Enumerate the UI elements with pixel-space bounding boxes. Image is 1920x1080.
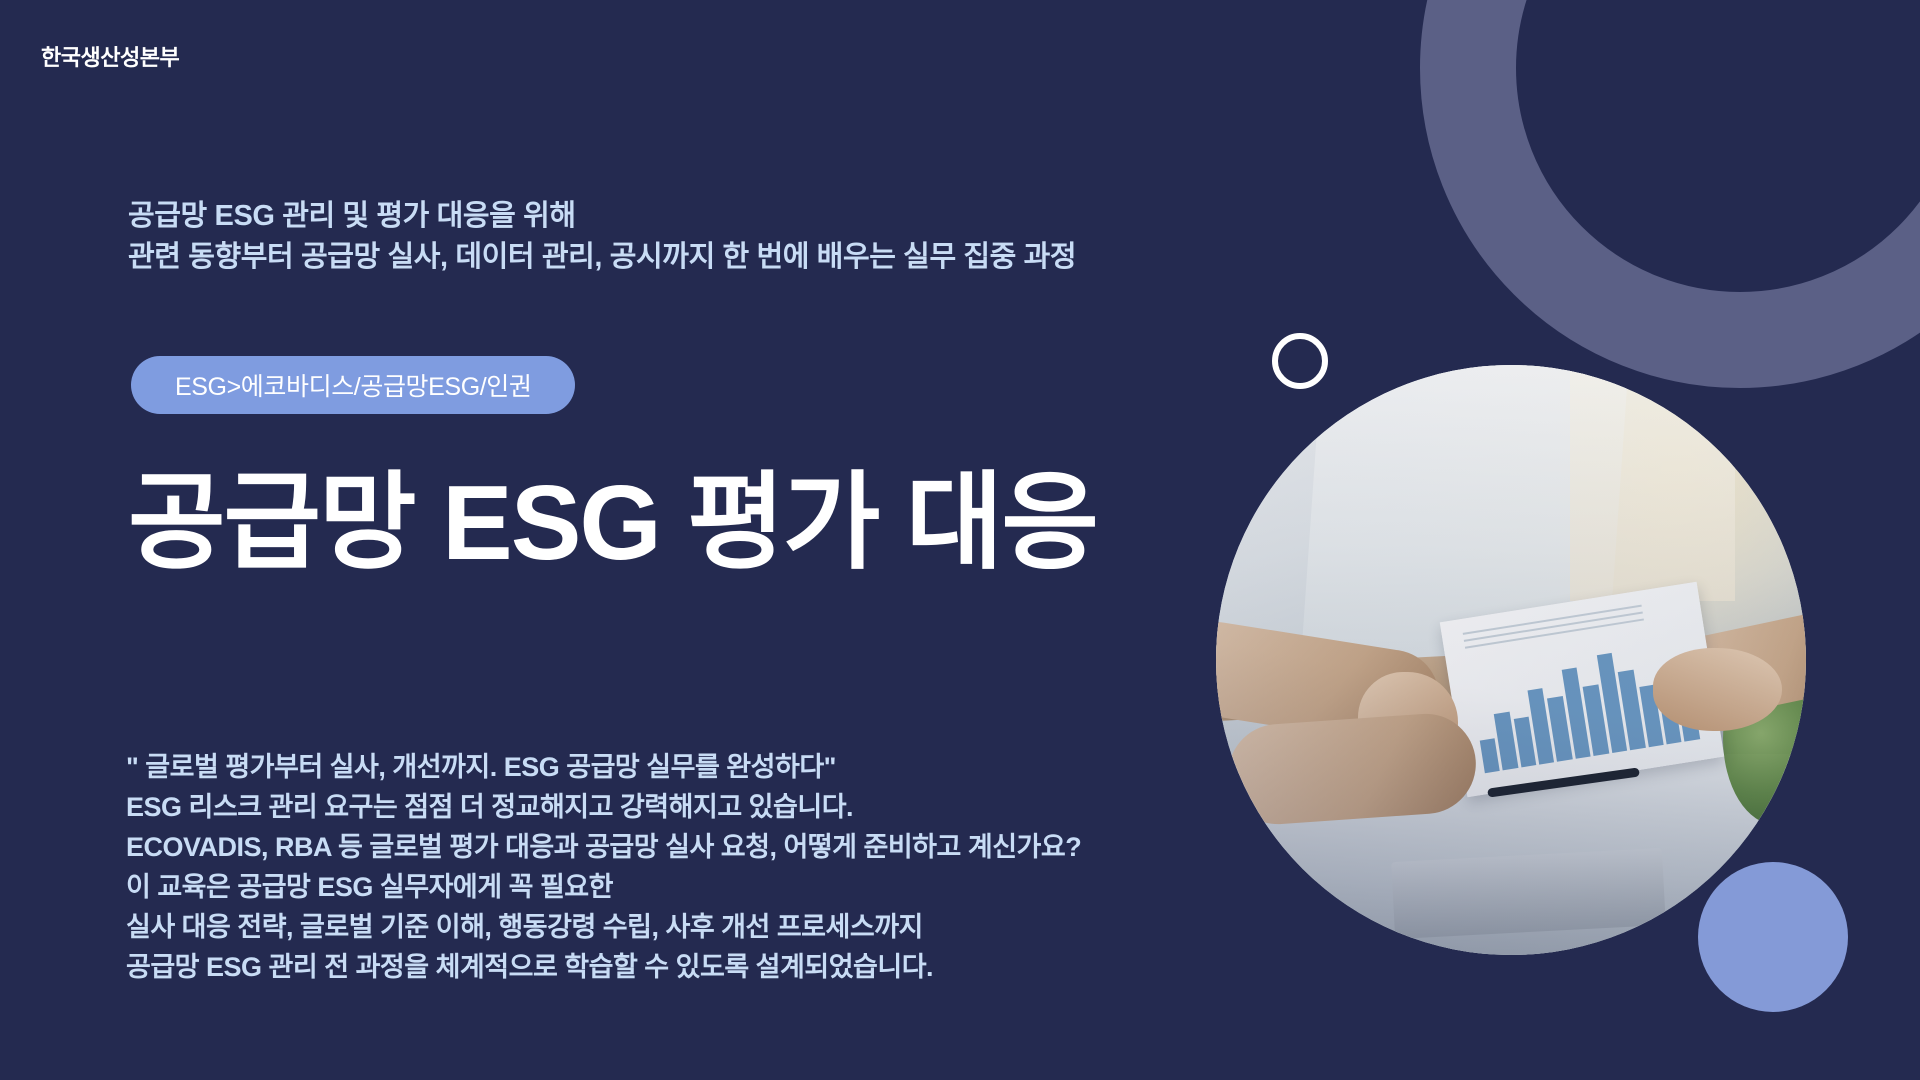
hero-description-line-1: " 글로벌 평가부터 실사, 개선까지. ESG 공급망 실무를 완성하다" (126, 748, 1081, 788)
hero-subtitle: 공급망 ESG 관리 및 평가 대응을 위해 관련 동향부터 공급망 실사, 데… (128, 196, 1076, 277)
photo-color-tint (1216, 365, 1806, 955)
hero-photo-circle (1216, 365, 1806, 955)
page-title: 공급망 ESG 평가 대응 (128, 468, 1097, 579)
category-badge-label: ESG>에코바디스/공급망ESG/인권 (175, 367, 531, 403)
hero-description-line-6: 공급망 ESG 관리 전 과정을 체계적으로 학습할 수 있도록 설계되었습니다… (126, 948, 1081, 988)
hero-description-line-4: 이 교육은 공급망 ESG 실무자에게 꼭 필요한 (126, 868, 1081, 908)
hero-subtitle-line-1: 공급망 ESG 관리 및 평가 대응을 위해 (128, 196, 1076, 237)
arc-ring-shape (1420, 0, 1920, 388)
hero-description-line-2: ESG 리스크 관리 요구는 점점 더 정교해지고 강력해지고 있습니다. (126, 788, 1081, 828)
hero-description: " 글로벌 평가부터 실사, 개선까지. ESG 공급망 실무를 완성하다" E… (126, 748, 1081, 988)
hero-description-line-5: 실사 대응 전략, 글로벌 기준 이해, 행동강령 수립, 사후 개선 프로세스… (126, 908, 1081, 948)
hero-description-line-3: ECOVADIS, RBA 등 글로벌 평가 대응과 공급망 실사 요청, 어떻… (126, 828, 1081, 868)
brand-logo-text: 한국생산성본부 (41, 40, 179, 72)
category-badge[interactable]: ESG>에코바디스/공급망ESG/인권 (131, 356, 575, 414)
hero-subtitle-line-2: 관련 동향부터 공급망 실사, 데이터 관리, 공시까지 한 번에 배우는 실무… (128, 237, 1076, 278)
